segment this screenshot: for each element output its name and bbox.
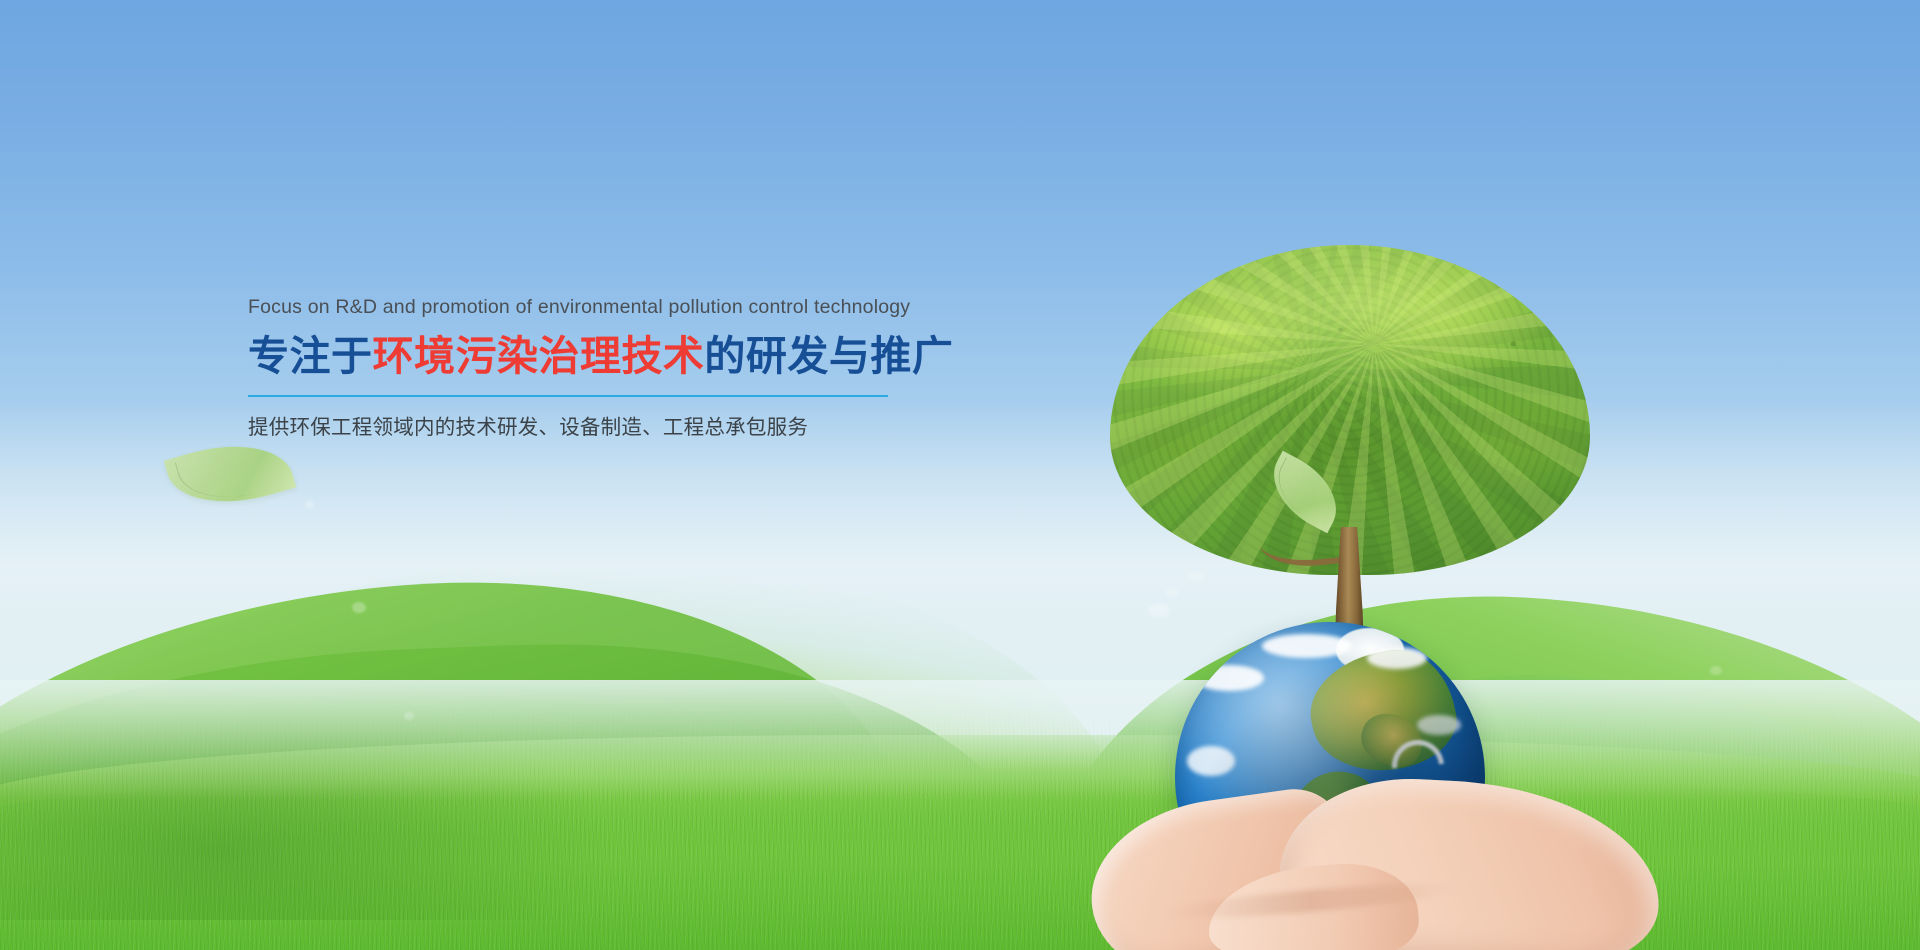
hero-banner: Focus on R&D and promotion of environmen… xyxy=(0,0,1920,950)
globe-shading xyxy=(1175,622,1485,932)
headline-divider xyxy=(248,395,888,398)
headline-part-3: 的研发与推广 xyxy=(704,332,953,380)
headline-part-1: 专注于 xyxy=(248,332,372,380)
banner-headline: 专注于环境污染治理技术的研发与推广 xyxy=(248,333,948,381)
banner-subtitle: 提供环保工程领域内的技术研发、设备制造、工程总承包服务 xyxy=(248,414,948,441)
earth-globe xyxy=(1175,622,1485,932)
meadow-foreground xyxy=(0,780,1920,950)
headline-part-2-highlight: 环境污染治理技术 xyxy=(372,332,704,380)
banner-copy: Focus on R&D and promotion of environmen… xyxy=(248,296,948,441)
banner-eyebrow-english: Focus on R&D and promotion of environmen… xyxy=(248,296,948,319)
